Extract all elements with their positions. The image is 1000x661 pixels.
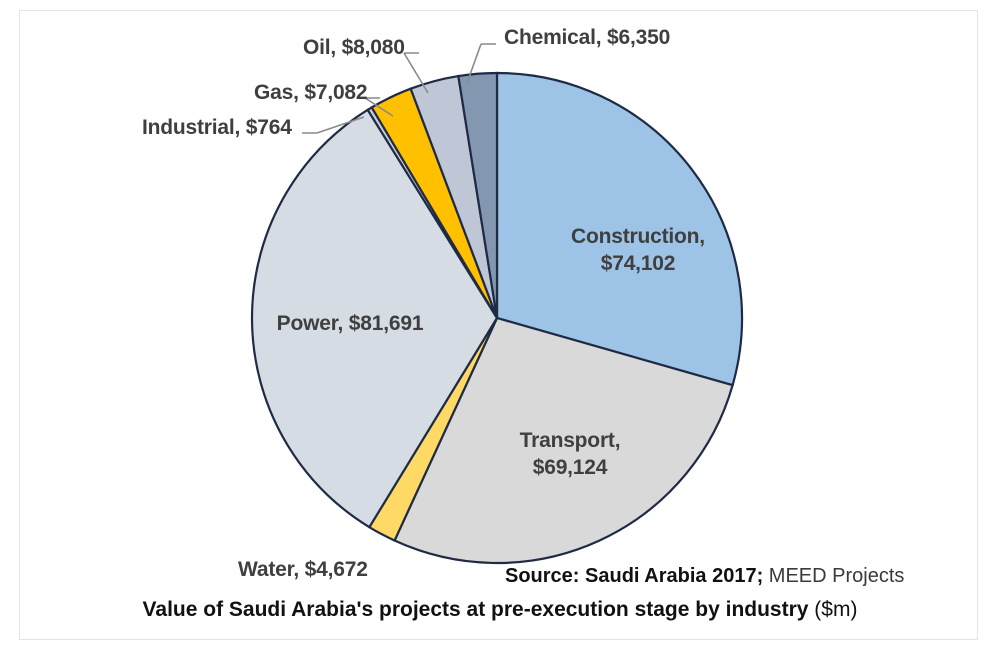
pie-chart-svg xyxy=(0,0,1000,661)
source-note: Source: Saudi Arabia 2017; MEED Projects xyxy=(505,565,904,588)
inner-label-power: Power, $81,691 xyxy=(255,310,445,337)
inner-label-construction-line2: $74,102 xyxy=(563,250,713,277)
chart-caption-title: Value of Saudi Arabia's projects at pre-… xyxy=(143,598,809,621)
inner-label-construction-line1: Construction, xyxy=(563,223,713,250)
inner-label-construction: Construction, $74,102 xyxy=(563,223,713,278)
inner-label-transport-line2: $69,124 xyxy=(500,454,640,481)
callout-label-water: Water, $4,672 xyxy=(238,558,368,582)
callout-label-oil: Oil, $8,080 xyxy=(303,36,405,60)
inner-label-transport: Transport, $69,124 xyxy=(500,427,640,482)
pie-chart: Chemical, $6,350 Oil, $8,080 Gas, $7,082… xyxy=(0,0,1000,661)
chart-caption-unit: ($m) xyxy=(808,598,857,621)
source-note-strong: Source: Saudi Arabia 2017; xyxy=(505,565,763,587)
callout-label-gas: Gas, $7,082 xyxy=(254,81,367,105)
source-note-normal: MEED Projects xyxy=(763,565,904,587)
callout-label-industrial: Industrial, $764 xyxy=(142,116,292,140)
inner-label-transport-line1: Transport, xyxy=(500,427,640,454)
chart-caption: Value of Saudi Arabia's projects at pre-… xyxy=(0,598,1000,622)
callout-label-chemical: Chemical, $6,350 xyxy=(504,26,670,50)
